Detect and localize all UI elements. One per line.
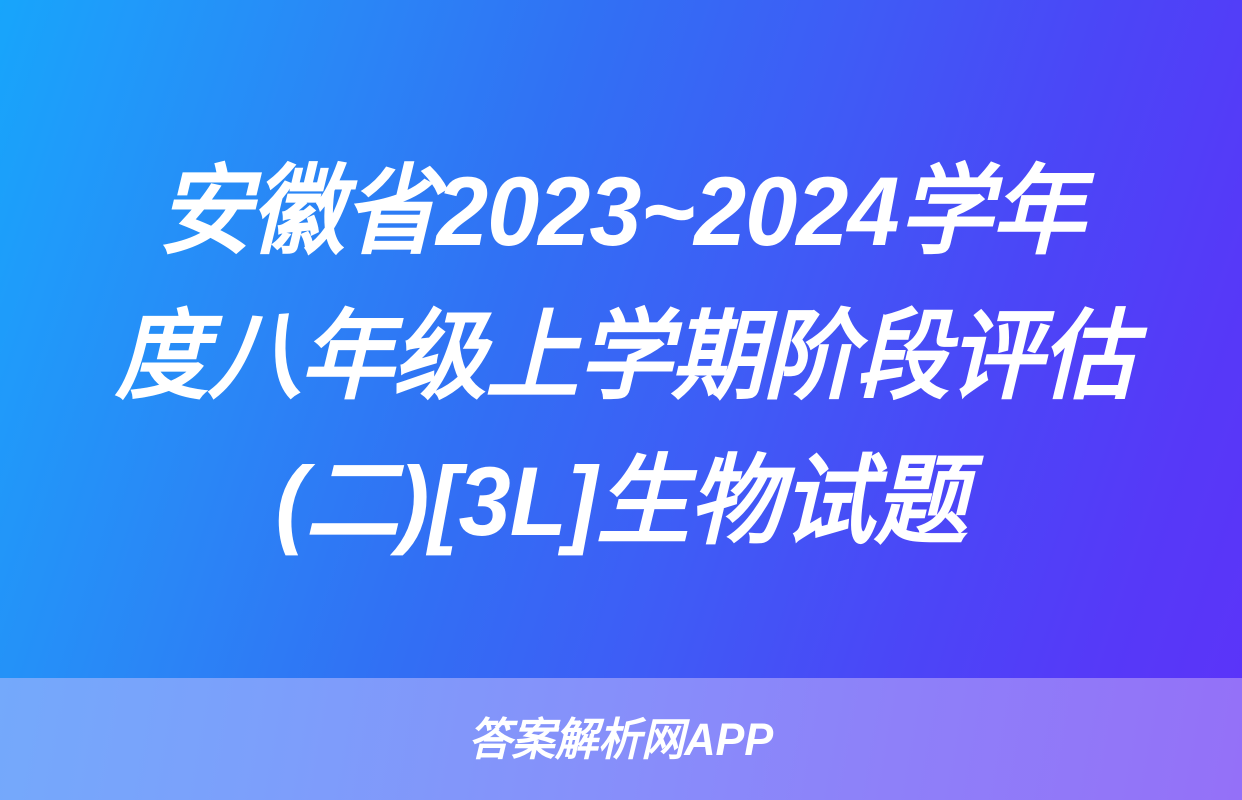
exam-paper-cover-poster: 安徽省2023~2024学年 度八年级上学期阶段评估 (二)[3L]生物试题 答… [0, 0, 1242, 800]
footer-brand-band: 答案解析网APP [0, 678, 1242, 800]
title-line-2: 度八年级上学期阶段评估 [115, 284, 1127, 429]
title-line-1: 安徽省2023~2024学年 [115, 139, 1127, 284]
brand-watermark-label: 答案解析网APP [469, 715, 774, 765]
title-line-3: (二)[3L]生物试题 [115, 429, 1127, 574]
page-title: 安徽省2023~2024学年 度八年级上学期阶段评估 (二)[3L]生物试题 [91, 139, 1151, 574]
hero-section: 安徽省2023~2024学年 度八年级上学期阶段评估 (二)[3L]生物试题 [0, 0, 1242, 678]
